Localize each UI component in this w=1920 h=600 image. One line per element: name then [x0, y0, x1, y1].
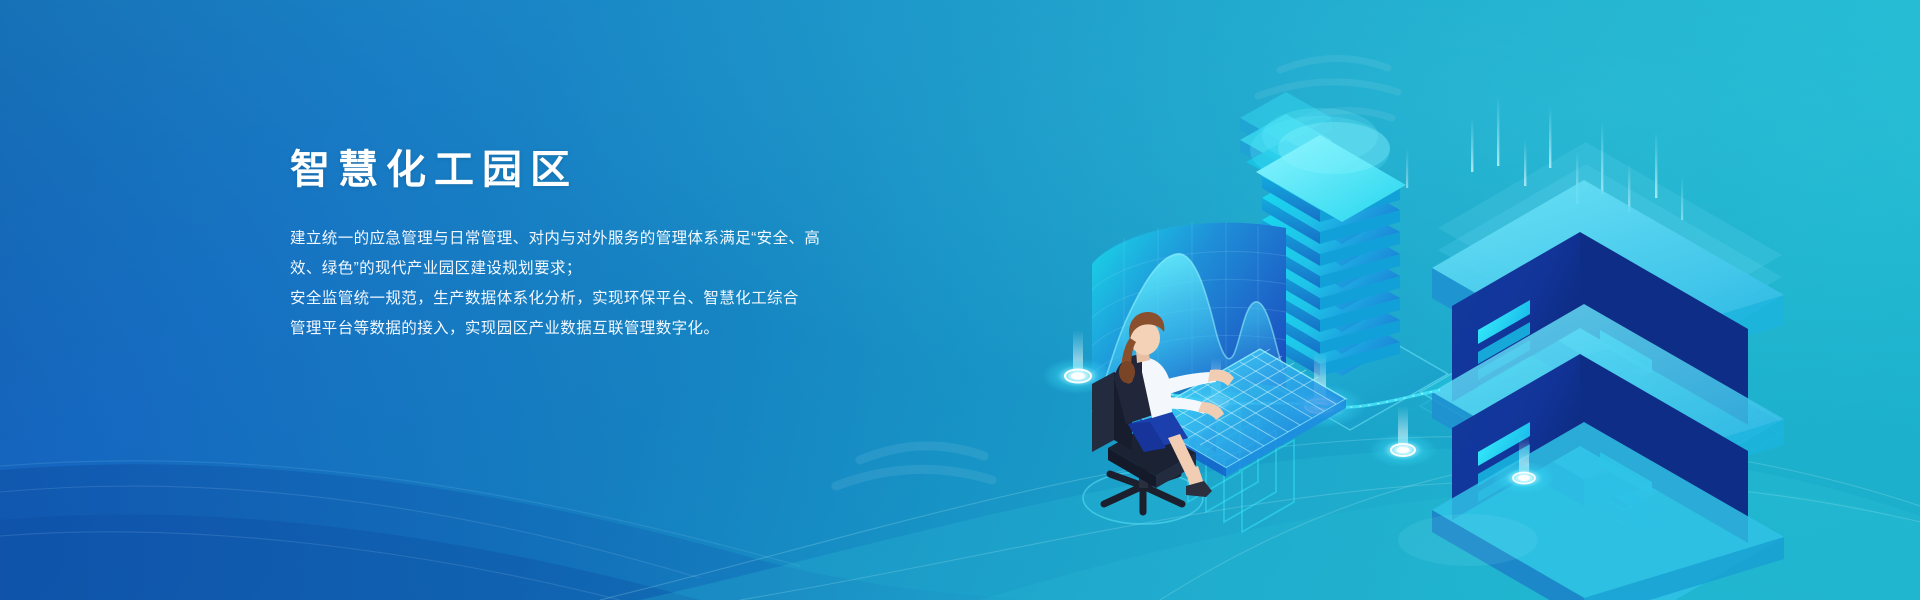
- description-line: 效、绿色”的现代产业园区建设规划要求；: [290, 254, 910, 284]
- ambient-ground-glow: [1398, 514, 1538, 566]
- hero-description: 建立统一的应急管理与日常管理、对内与对外服务的管理体系满足“安全、高 效、绿色”…: [290, 224, 910, 344]
- description-line: 建立统一的应急管理与日常管理、对内与对外服务的管理体系满足“安全、高: [290, 224, 910, 254]
- page-title: 智慧化工园区: [290, 148, 910, 192]
- chair-back: [1092, 372, 1114, 452]
- hero-banner: 智慧化工园区 建立统一的应急管理与日常管理、对内与对外服务的管理体系满足“安全、…: [0, 0, 1920, 600]
- description-line: 安全监管统一规范，生产数据体系化分析，实现环保平台、智慧化工综合: [290, 284, 910, 314]
- hero-text-block: 智慧化工园区 建立统一的应急管理与日常管理、对内与对外服务的管理体系满足“安全、…: [290, 148, 910, 344]
- glow-node-connector: [1369, 406, 1437, 467]
- description-line: 管理平台等数据的接入，实现园区产业数据互联管理数字化。: [290, 314, 910, 344]
- illustration-smart-park: [0, 0, 1920, 600]
